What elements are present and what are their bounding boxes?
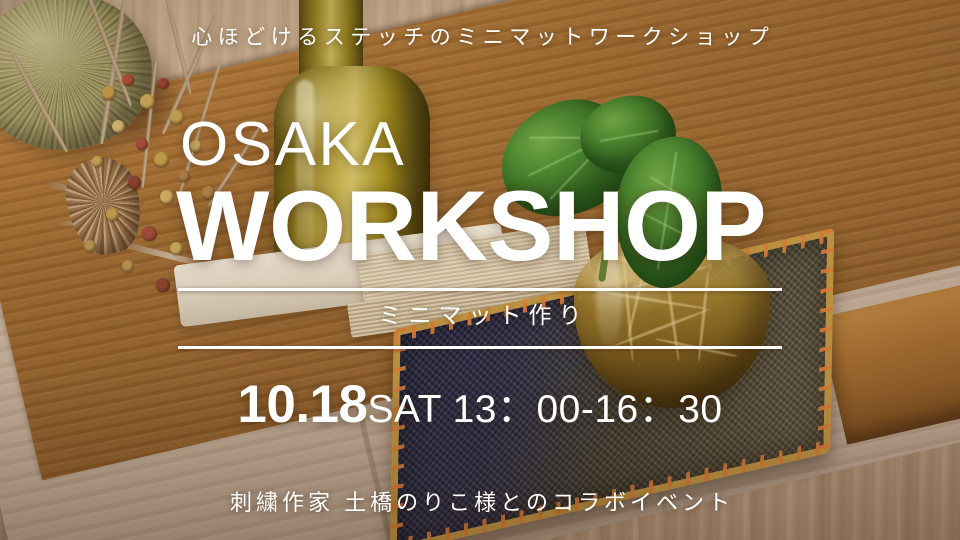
divider-line-top: [178, 288, 782, 291]
subtitle-text: ミニマット作り: [178, 303, 782, 328]
text-overlay: 心ほどけるステッチのミニマットワークショップ OSAKA WORKSHOP ミニ…: [0, 0, 960, 540]
date-value: 10.18: [237, 375, 367, 434]
title-city: OSAKA: [180, 114, 406, 176]
title-workshop: WORKSHOP: [176, 176, 766, 275]
footer-collaboration-text: 刺繍作家 土橋のりこ様とのコラボイベント: [0, 491, 960, 515]
poster-canvas: 心ほどけるステッチのミニマットワークショップ OSAKA WORKSHOP ミニ…: [0, 0, 960, 540]
divider-line-bottom: [178, 346, 782, 349]
date-time-line: 10.18SAT 13：00-16：30: [0, 374, 960, 435]
day-and-time-value: SAT 13：00-16：30: [368, 388, 723, 431]
kicker-text: 心ほどけるステッチのミニマットワークショップ: [0, 26, 960, 49]
